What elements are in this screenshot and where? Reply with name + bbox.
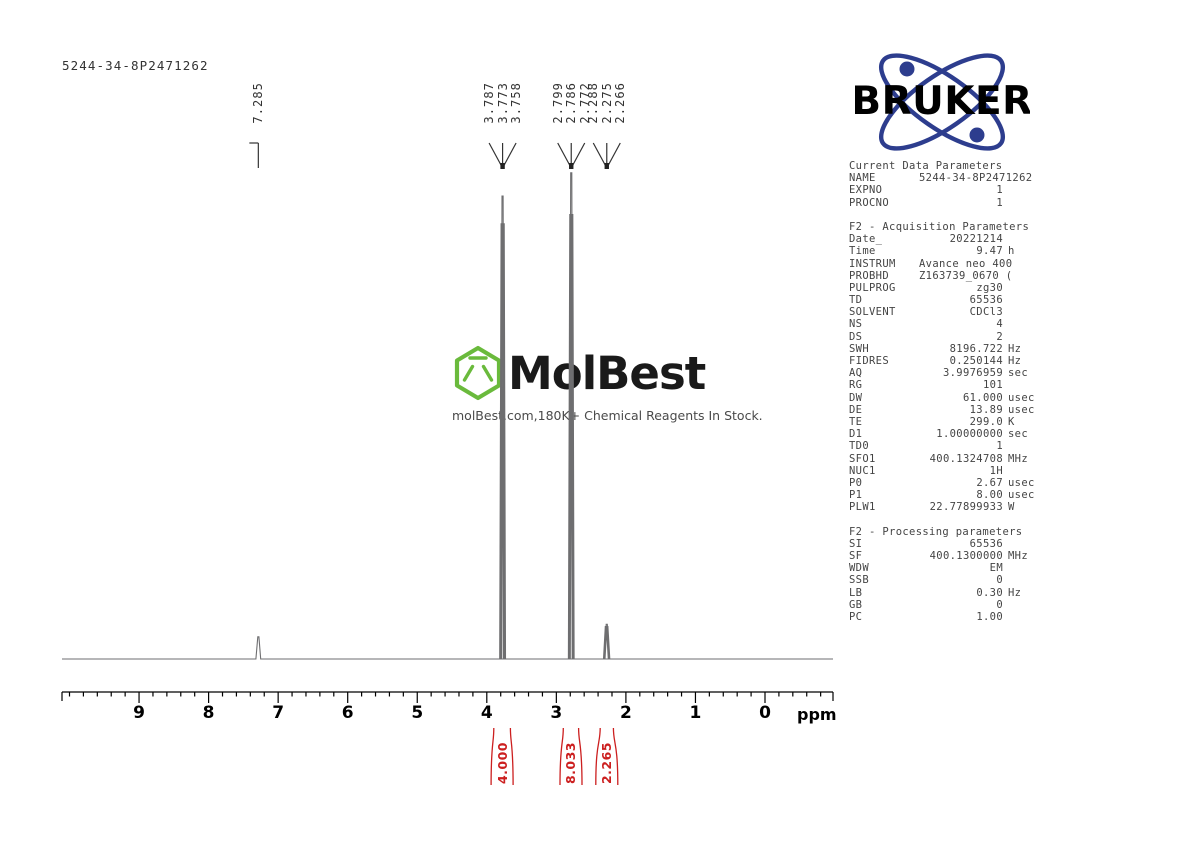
integral-value-8.033: 8.033 — [565, 742, 578, 784]
integral-labels: 4.0008.0332.265 — [0, 0, 1190, 842]
integral-value-2.265: 2.265 — [601, 742, 614, 784]
integral-value-4.000: 4.000 — [497, 742, 510, 784]
